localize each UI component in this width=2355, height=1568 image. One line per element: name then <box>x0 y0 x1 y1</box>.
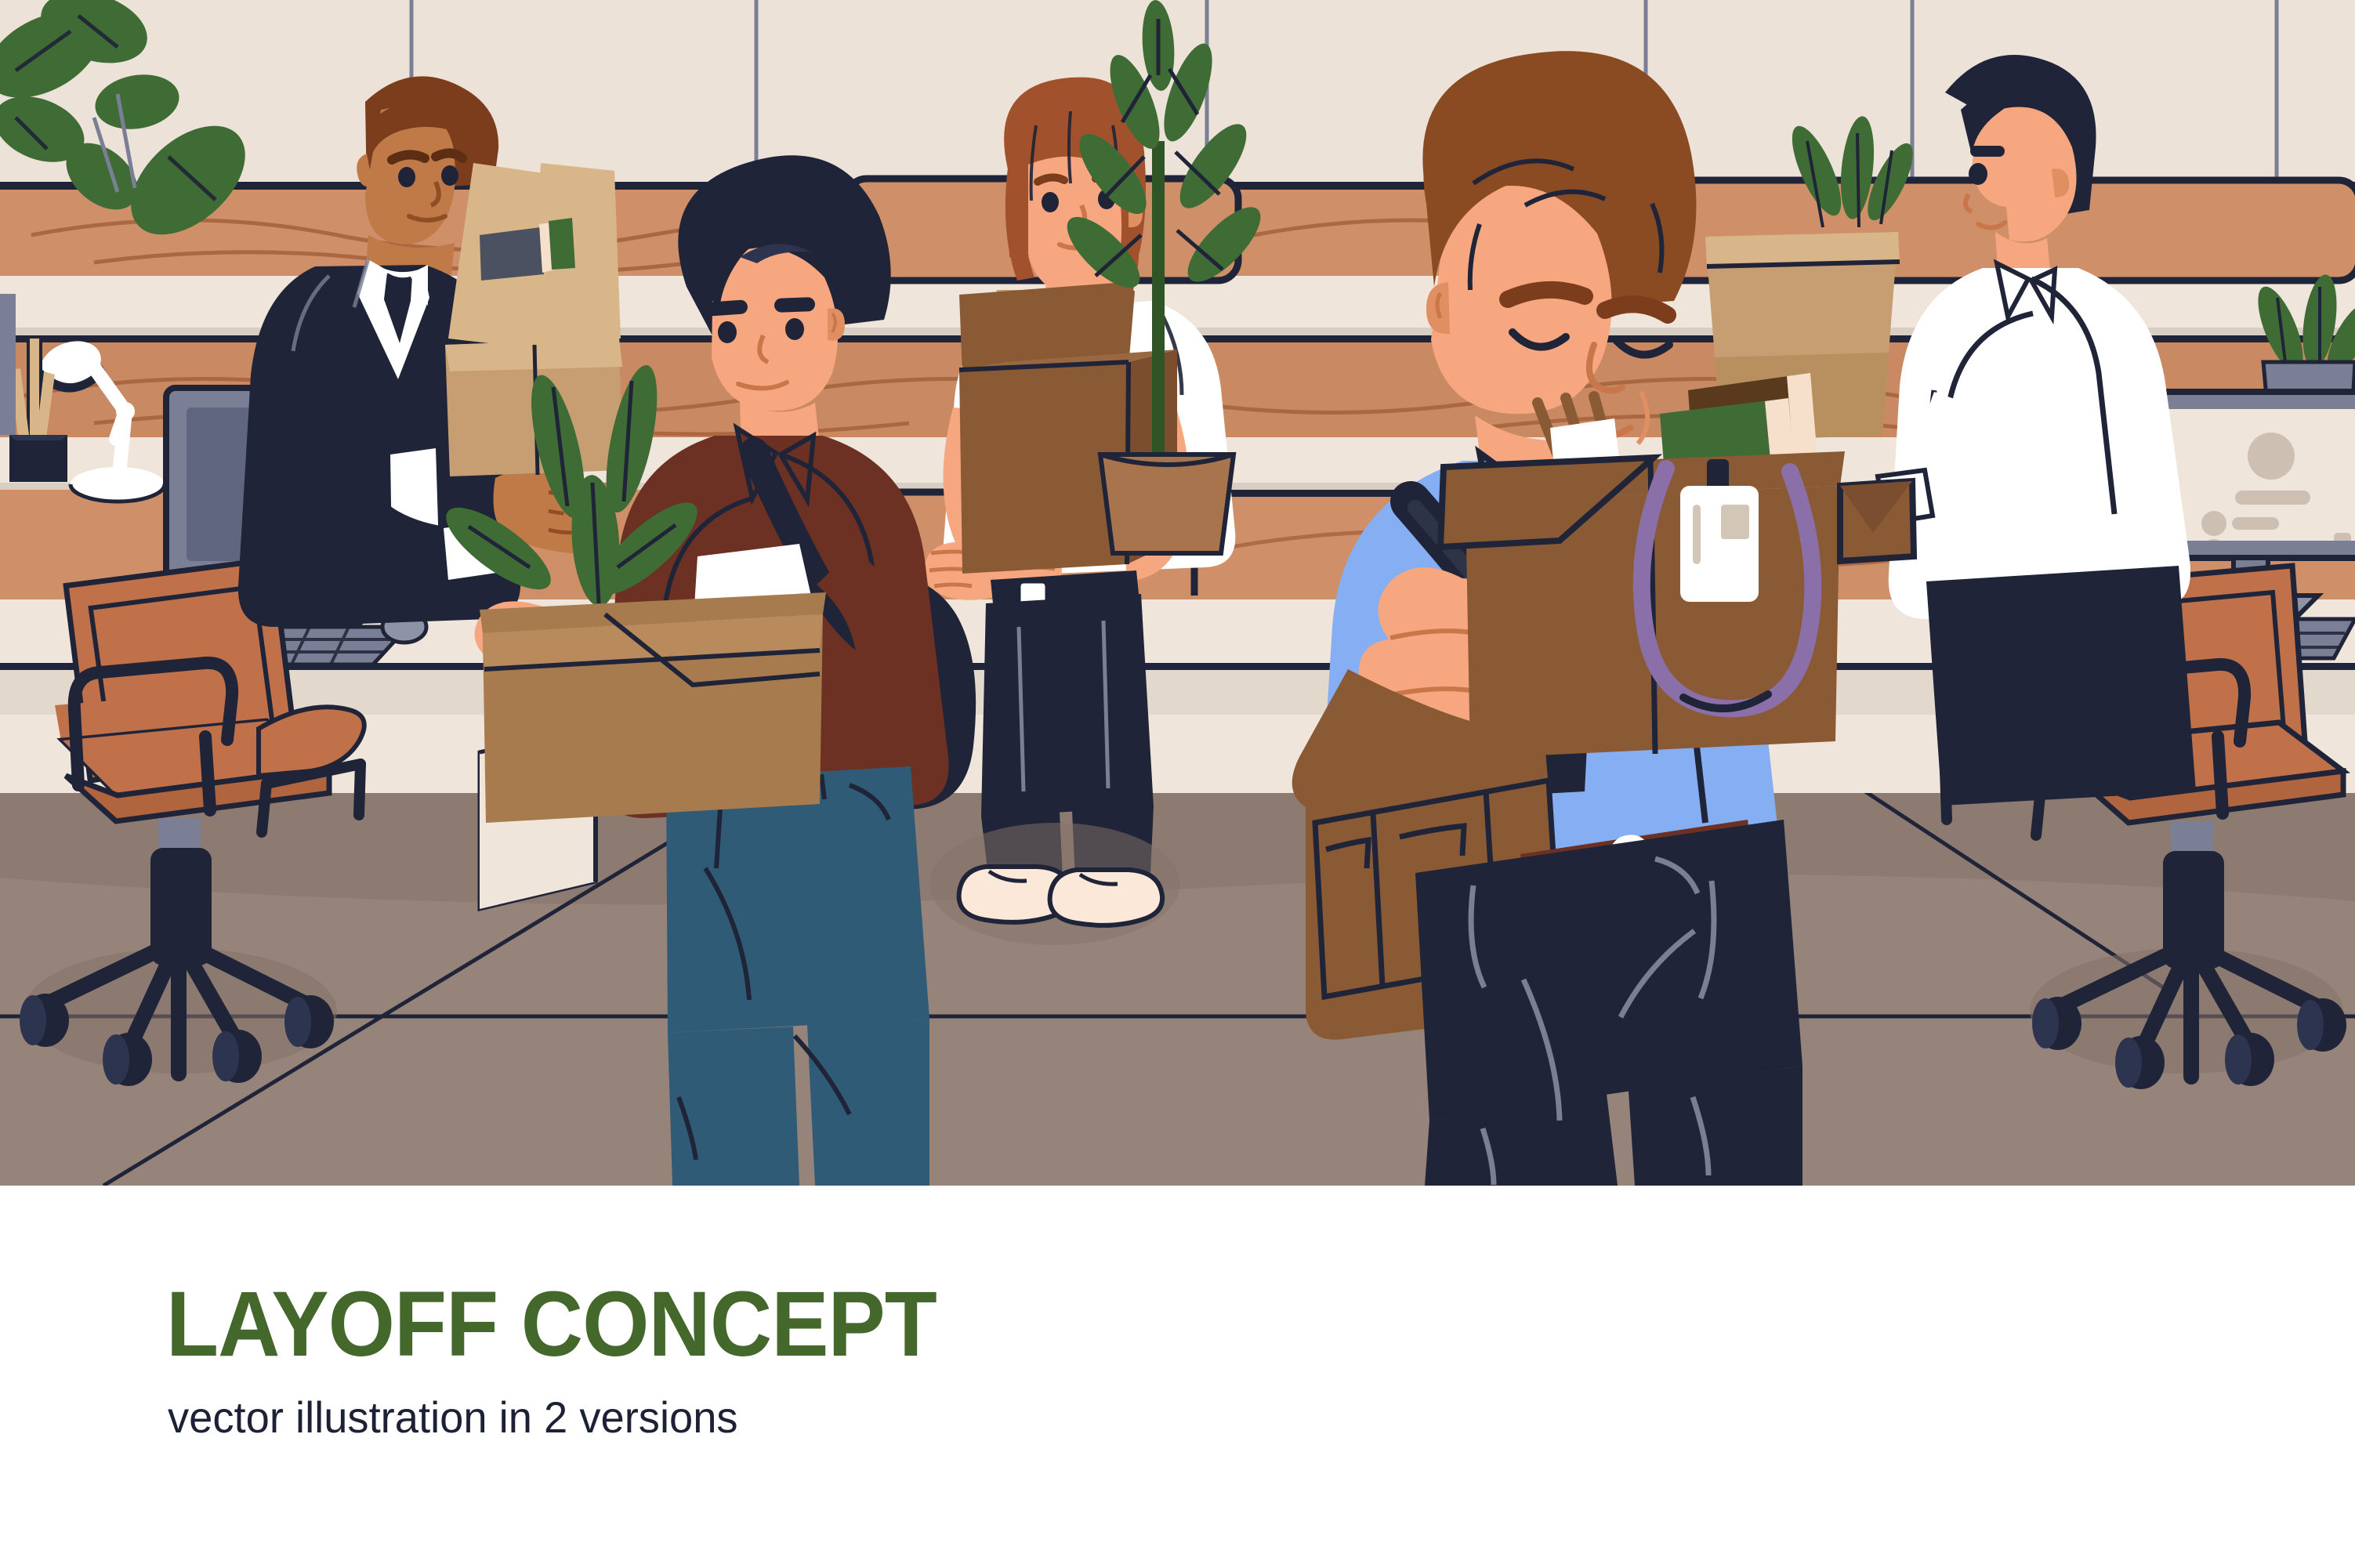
trousers <box>981 594 1154 817</box>
terracotta-pot <box>1100 454 1234 553</box>
caption-bar: LAYOFF CONCEPT vector illustration in 2 … <box>0 1186 2355 1568</box>
page-subtitle: vector illustration in 2 versions <box>168 1396 738 1439</box>
sneaker-right <box>1050 870 1163 925</box>
illustration-region <box>0 0 2355 1186</box>
trousers <box>1926 566 2196 806</box>
office-layoff-illustration <box>0 0 2355 1186</box>
page-title: LAYOFF CONCEPT <box>166 1278 937 1371</box>
id-badge <box>1680 486 1759 602</box>
book-left-edge <box>0 294 16 435</box>
box-navy-suit-man <box>445 163 622 476</box>
poster-canvas: LAYOFF CONCEPT vector illustration in 2 … <box>0 0 2355 1568</box>
